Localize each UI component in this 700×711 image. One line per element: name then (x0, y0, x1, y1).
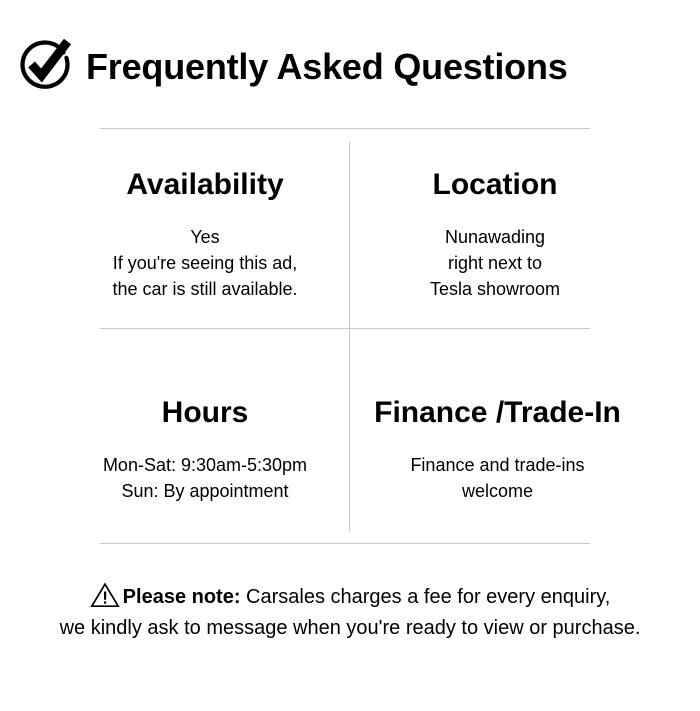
section-heading-location: Location (350, 170, 640, 200)
warning-triangle-icon (90, 582, 120, 608)
footer-note-label: Please note: (123, 586, 241, 608)
section-body-line: If you're seeing this ad, (60, 250, 350, 276)
section-body-hours: Mon-Sat: 9:30am-5:30pm Sun: By appointme… (60, 452, 350, 504)
section-body-line: Sun: By appointment (60, 478, 350, 504)
section-body-line: right next to (350, 250, 640, 276)
section-body-finance: Finance and trade-ins welcome (350, 452, 645, 504)
divider-bottom (100, 543, 590, 544)
footer-note: Please note: Carsales charges a fee for … (0, 582, 700, 644)
faq-section-finance: Finance /Trade-In Finance and trade-ins … (350, 368, 645, 504)
check-circle-icon (16, 39, 72, 95)
section-body-availability: Yes If you're seeing this ad, the car is… (60, 224, 350, 302)
section-body-line: welcome (350, 478, 645, 504)
faq-card: Frequently Asked Questions Availability … (0, 0, 700, 711)
section-heading-availability: Availability (60, 170, 350, 200)
divider-top (100, 128, 590, 129)
faq-grid: Availability Yes If you're seeing this a… (0, 140, 700, 535)
section-body-line: Yes (60, 224, 350, 250)
page-title: Frequently Asked Questions (86, 49, 568, 85)
faq-section-availability: Availability Yes If you're seeing this a… (60, 140, 350, 302)
footer-note-line2: we kindly ask to message when you're rea… (0, 613, 700, 644)
footer-note-line1: Please note: Carsales charges a fee for … (0, 582, 700, 613)
footer-note-text: Carsales charges a fee for every enquiry… (241, 586, 611, 608)
section-body-line: Mon-Sat: 9:30am-5:30pm (60, 452, 350, 478)
page-header: Frequently Asked Questions (16, 38, 684, 96)
section-heading-hours: Hours (60, 398, 350, 428)
section-heading-finance: Finance /Trade-In (350, 398, 645, 428)
section-body-location: Nunawading right next to Tesla showroom (350, 224, 640, 302)
section-body-line: Finance and trade-ins (350, 452, 645, 478)
faq-section-location: Location Nunawading right next to Tesla … (350, 140, 640, 302)
section-body-line: the car is still available. (60, 276, 350, 302)
faq-section-hours: Hours Mon-Sat: 9:30am-5:30pm Sun: By app… (60, 368, 350, 504)
section-body-line: Nunawading (350, 224, 640, 250)
section-body-line: Tesla showroom (350, 276, 640, 302)
